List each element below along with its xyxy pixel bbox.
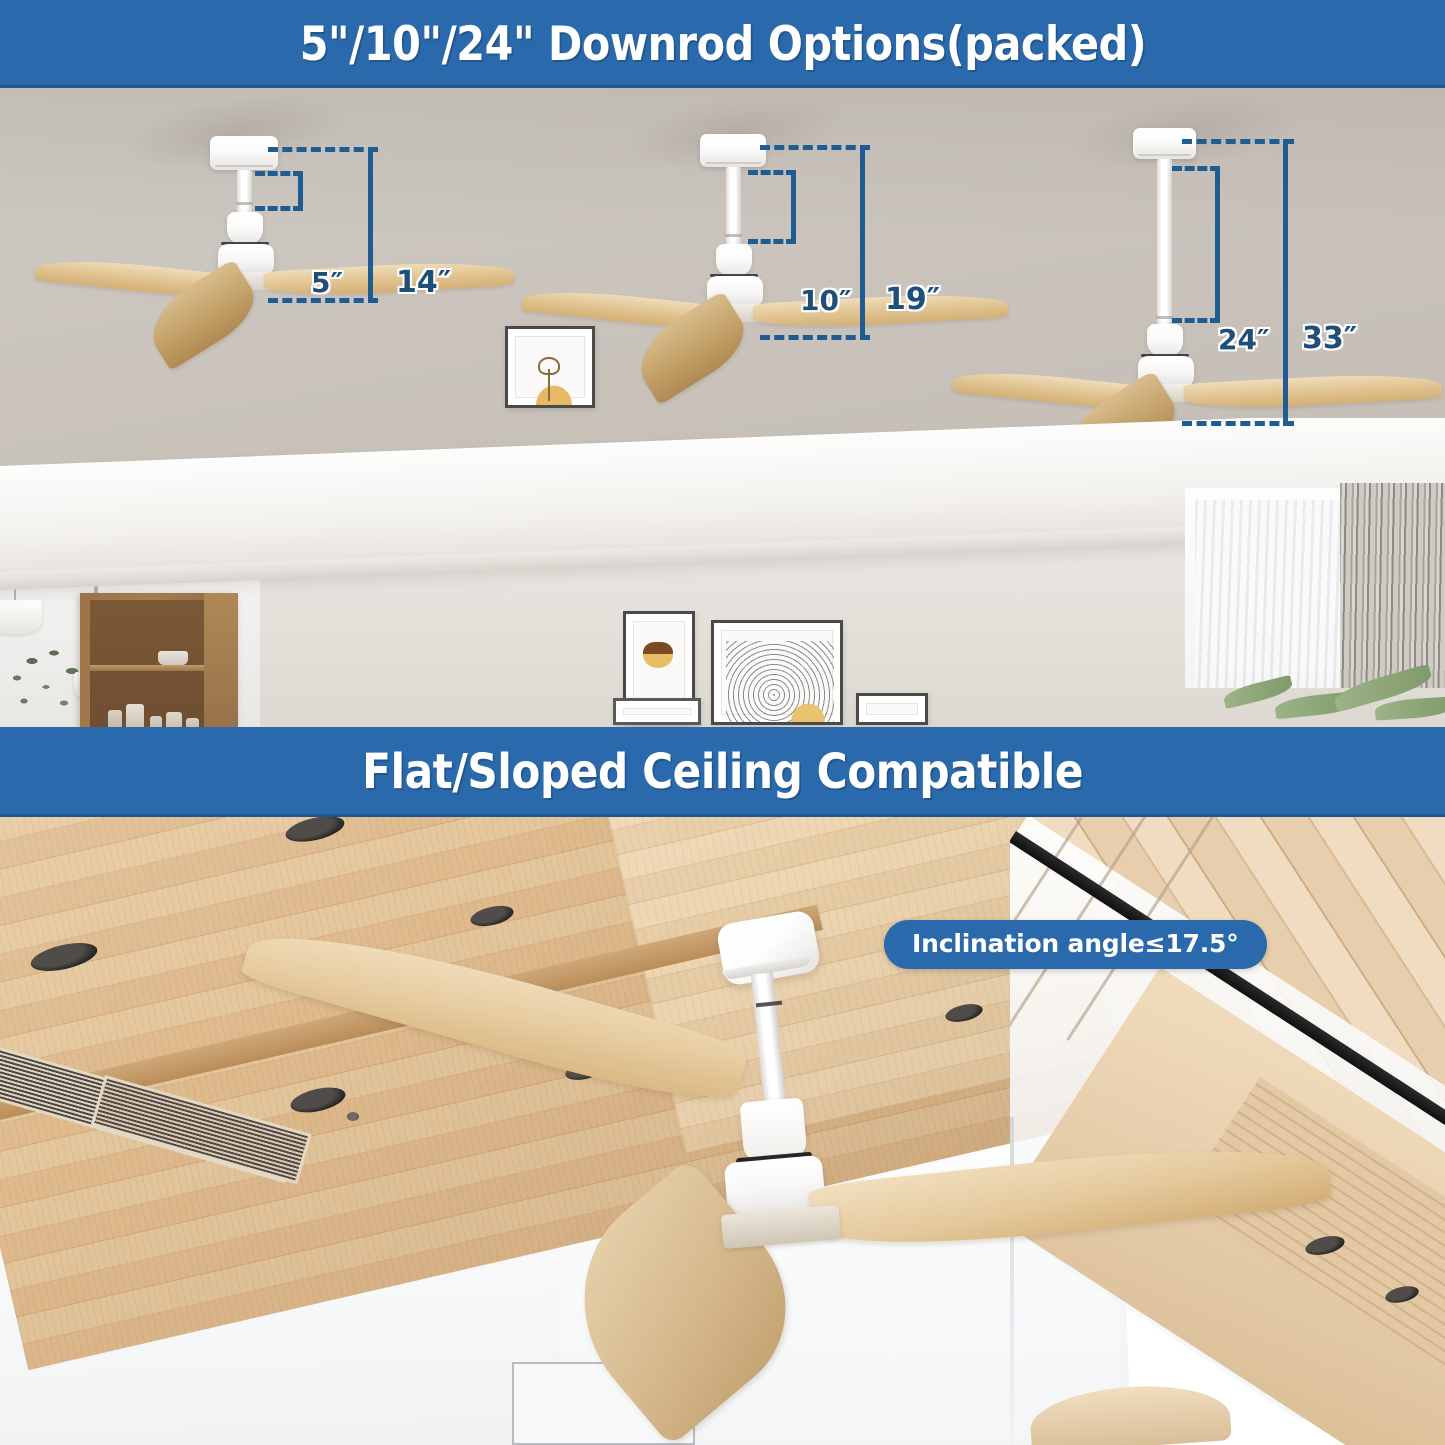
top-banner: 5"/10"/24" Downrod Options(packed) <box>0 0 1445 88</box>
wall-art-frame-4 <box>856 693 928 725</box>
downrod-comparison-scene: 5″ 14″ 10″ 19″ <box>0 88 1445 727</box>
dim-total-line-14in <box>368 147 373 302</box>
dim-label-total-33in: 33″ <box>1302 321 1357 356</box>
dim-top-guide-24in <box>1182 139 1294 144</box>
cabinet-jar <box>166 712 182 727</box>
middle-banner: Flat/Sloped Ceiling Compatible <box>0 727 1445 817</box>
wall-art-frame-1 <box>505 326 595 408</box>
dim-bottom-guide-10in <box>760 335 870 340</box>
dim-bracket-5in <box>255 171 303 211</box>
dim-top-guide-10in <box>760 145 870 150</box>
wood-beam-structure <box>1010 817 1445 1445</box>
cabinet-bowl <box>158 651 188 665</box>
downrod-joint <box>725 234 742 237</box>
dim-label-downrod-5in: 5″ <box>311 266 343 299</box>
cabinet-jar <box>186 718 199 727</box>
fan-canopy <box>210 136 278 170</box>
downrod-joint <box>1156 316 1173 319</box>
ceiling-screw <box>347 1112 359 1121</box>
dim-bottom-guide-24in <box>1182 421 1294 426</box>
dim-total-line-33in <box>1283 139 1288 426</box>
wooden-cabinet <box>80 593 238 727</box>
cabinet-jar <box>108 710 122 727</box>
inclination-angle-badge: Inclination angle≤17.5° <box>884 920 1267 969</box>
dim-total-line-19in <box>860 145 865 339</box>
fan-downrod <box>237 170 252 215</box>
cabinet-jar <box>150 716 162 727</box>
cabinet-interior <box>90 600 204 727</box>
downrod-joint <box>236 202 253 205</box>
wall-art-frame-5 <box>613 698 701 725</box>
frame-artwork-detail <box>788 680 828 722</box>
product-infographic: 5"/10"/24" Downrod Options(packed) 5″ 14… <box>0 0 1445 1445</box>
frame-mat <box>623 708 691 715</box>
sloped-ceiling-scene <box>0 817 1445 1445</box>
cabinet-jar <box>126 704 144 727</box>
frame-artwork <box>643 642 673 668</box>
pendant-shade <box>0 600 42 634</box>
cabinet-shelf <box>90 665 204 671</box>
fan-canopy <box>700 134 766 167</box>
dim-label-downrod-10in: 10″ <box>800 284 851 317</box>
dim-top-guide-5in <box>268 147 378 152</box>
fan-downrod <box>1157 159 1172 324</box>
fan-motor-top <box>716 244 752 276</box>
indoor-plant <box>1215 653 1445 723</box>
dim-label-total-19in: 19″ <box>885 282 940 317</box>
dim-label-total-14in: 14″ <box>396 265 451 300</box>
wall-art-frame-3 <box>711 620 843 725</box>
frame-mat <box>866 703 918 715</box>
dim-label-downrod-24in: 24″ <box>1218 323 1269 356</box>
cabinet-side-panel <box>204 593 238 727</box>
middle-banner-title: Flat/Sloped Ceiling Compatible <box>362 748 1083 796</box>
fan-motor-top <box>1147 324 1183 356</box>
top-banner-title: 5"/10"/24" Downrod Options(packed) <box>299 21 1145 68</box>
plant-leaf <box>1374 696 1445 720</box>
frame-artwork-detail <box>538 357 560 375</box>
dim-bracket-10in <box>748 170 796 244</box>
inclination-angle-label: Inclination angle≤17.5° <box>912 931 1239 956</box>
fan-motor-top <box>227 212 263 244</box>
dim-bracket-24in <box>1172 166 1220 323</box>
